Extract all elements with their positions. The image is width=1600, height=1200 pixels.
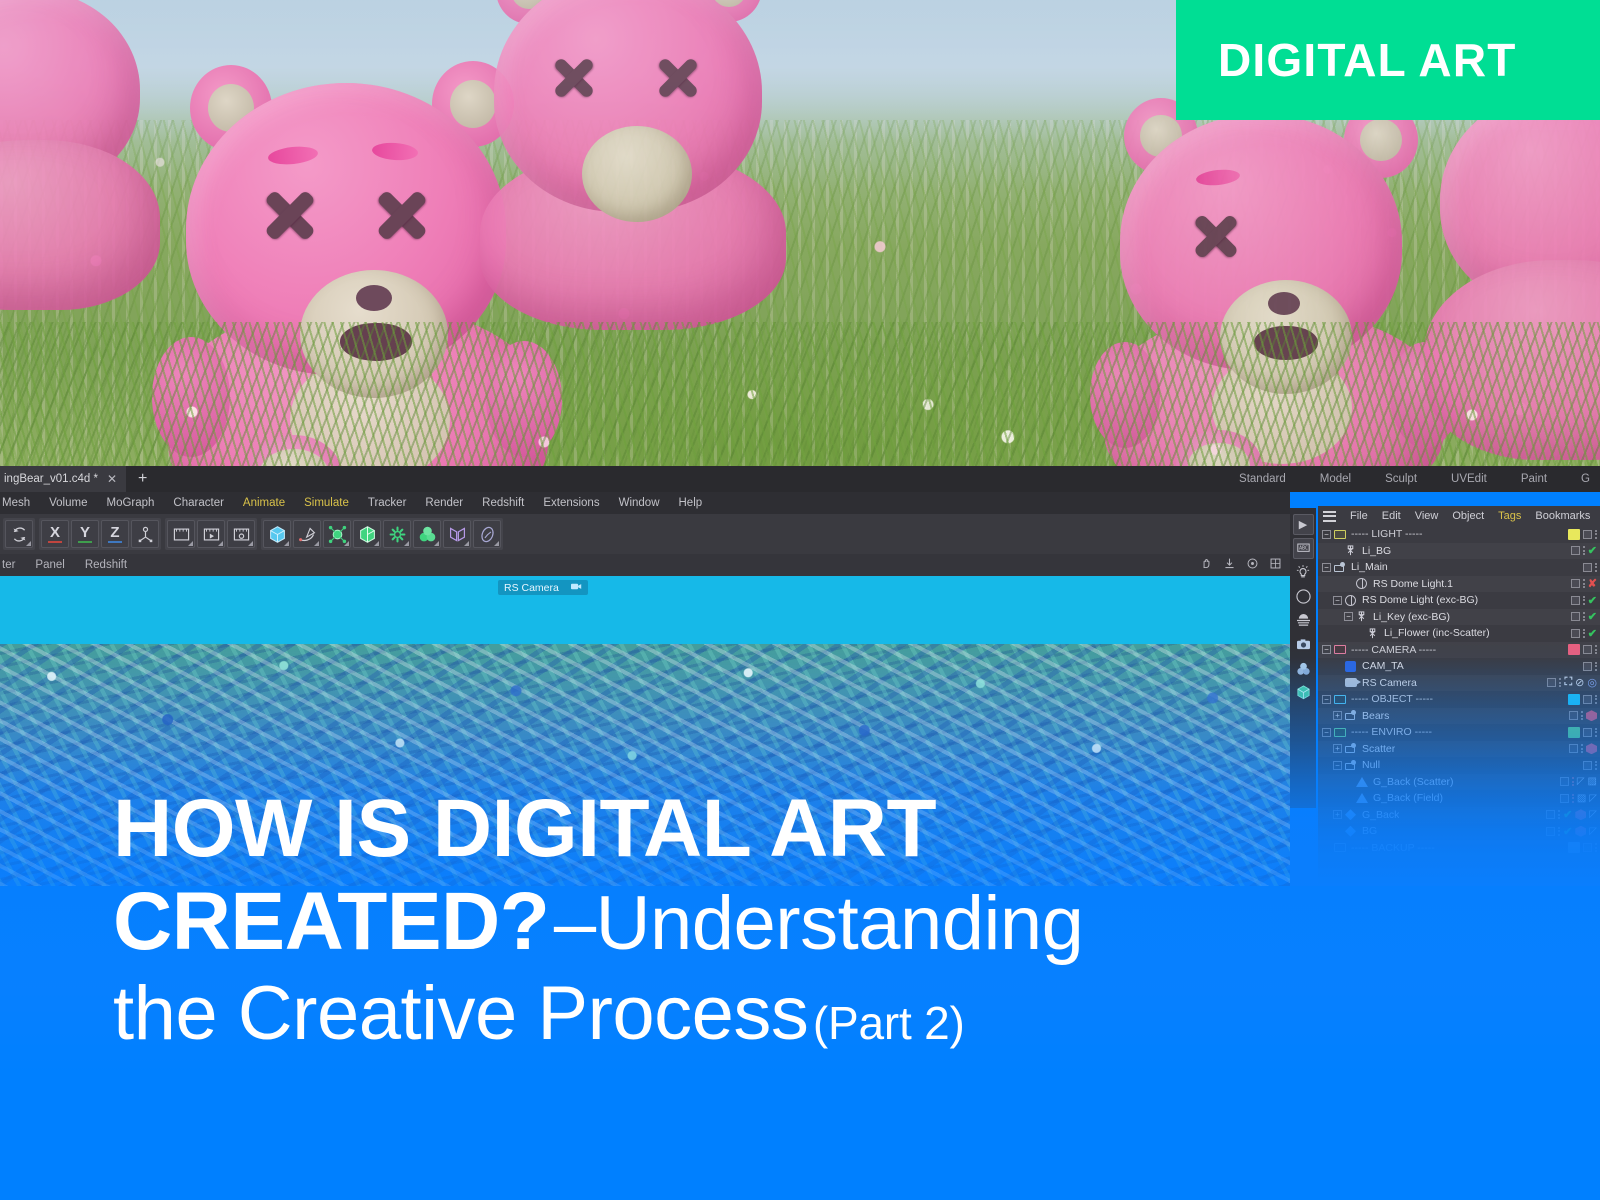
main-toolbar: X Y Z xyxy=(0,514,1290,554)
object-row[interactable]: −RS Dome Light (exc-BG)✔ xyxy=(1318,592,1600,609)
object-manager-side-icons: ▶ ABC xyxy=(1290,508,1316,808)
light-icon[interactable] xyxy=(1293,562,1314,583)
row-dots xyxy=(1583,612,1585,621)
bear-mouth xyxy=(1254,326,1318,360)
enabled-check-icon[interactable]: ✔ xyxy=(1588,594,1597,607)
lock-z-axis-icon[interactable]: Z xyxy=(101,520,129,548)
expand-toggle-icon[interactable]: − xyxy=(1333,596,1342,605)
viewport-menu-redshift[interactable]: Redshift xyxy=(85,559,127,571)
svg-text:ABC: ABC xyxy=(1299,546,1308,552)
bear-muzzle xyxy=(582,126,692,222)
tag-icon[interactable] xyxy=(1571,629,1580,638)
layer-color-swatch[interactable] xyxy=(1568,694,1580,705)
object-row-tags xyxy=(1583,662,1597,671)
row-dots xyxy=(1595,728,1597,737)
object-row-label: Bears xyxy=(1362,710,1389,722)
protection-tag-icon[interactable]: ⊘ xyxy=(1575,676,1584,689)
om-menu-bookmarks[interactable]: Bookmarks xyxy=(1535,510,1590,522)
title-line-3-part: (Part 2) xyxy=(813,997,965,1049)
folder-cyan-icon xyxy=(1334,694,1347,705)
title-line-1: HOW IS DIGITAL ART xyxy=(113,782,1433,875)
category-badge-label: DIGITAL ART xyxy=(1218,33,1517,87)
tag-icon[interactable] xyxy=(1583,530,1592,539)
viewport-menu-bar: ter Panel Redshift xyxy=(0,554,1290,576)
object-row-label: Li_Flower (inc-Scatter) xyxy=(1384,627,1490,639)
row-dots xyxy=(1595,695,1597,704)
object-row-label: Null xyxy=(1362,759,1380,771)
object-row-tags xyxy=(1569,710,1597,721)
menu-item-help[interactable]: Help xyxy=(679,497,703,509)
menu-item-extensions[interactable]: Extensions xyxy=(543,497,599,509)
layout-tab-sculpt[interactable]: Sculpt xyxy=(1385,473,1417,485)
object-row[interactable]: Li_Flower (inc-Scatter)✔ xyxy=(1318,625,1600,642)
shading-icon[interactable] xyxy=(1293,586,1314,607)
uv-tag-icon[interactable]: ◸ xyxy=(1589,809,1597,820)
bear-arm-left xyxy=(152,337,230,457)
tag-icon[interactable] xyxy=(1569,744,1578,753)
object-row-label: ----- ENVIRO ----- xyxy=(1351,726,1432,738)
bear-nose xyxy=(1268,292,1300,315)
tag-icon[interactable] xyxy=(1569,711,1578,720)
scene-cube-icon[interactable] xyxy=(1293,682,1314,703)
expand-toggle-icon[interactable]: + xyxy=(1333,744,1342,753)
row-dots xyxy=(1572,794,1574,803)
object-row-tags xyxy=(1568,694,1597,705)
bear-body xyxy=(0,140,160,310)
layout-tab-more[interactable]: G xyxy=(1581,473,1590,485)
null-icon xyxy=(1334,562,1347,573)
enabled-check-icon[interactable]: ✔ xyxy=(1588,610,1597,623)
row-dots xyxy=(1595,761,1597,770)
tag-icon[interactable] xyxy=(1546,810,1555,819)
teddy-bear-far-left xyxy=(0,0,170,270)
dome-icon xyxy=(1356,578,1369,589)
material-tag-icon[interactable] xyxy=(1575,826,1586,837)
object-row[interactable]: +Bears xyxy=(1318,708,1600,725)
menu-item-animate[interactable]: Animate xyxy=(243,497,285,509)
object-row-tags: ✘ xyxy=(1571,577,1597,590)
layer-color-swatch[interactable] xyxy=(1568,842,1580,853)
expand-toggle-icon[interactable]: − xyxy=(1322,530,1331,539)
subdivision-icon[interactable] xyxy=(353,520,381,548)
object-row[interactable]: −----- LIGHT ----- xyxy=(1318,526,1600,543)
object-row-tags xyxy=(1568,529,1597,540)
object-row-label: ----- CAMERA ----- xyxy=(1351,644,1436,656)
layout-tab-standard[interactable]: Standard xyxy=(1239,473,1286,485)
object-row-label: Li_Main xyxy=(1351,561,1388,573)
tag-icon[interactable] xyxy=(1571,579,1580,588)
title-line-3: the Creative Process (Part 2) xyxy=(113,971,1433,1058)
object-row-tags xyxy=(1583,761,1597,770)
object-row[interactable]: −Li_Key (exc-BG)✔ xyxy=(1318,609,1600,626)
object-row[interactable]: −----- OBJECT ----- xyxy=(1318,691,1600,708)
null-icon xyxy=(1345,710,1358,721)
object-row-label: ----- LIGHT ----- xyxy=(1351,528,1423,540)
hamburger-icon[interactable] xyxy=(1323,511,1336,522)
om-menu-file[interactable]: File xyxy=(1350,510,1368,522)
teddy-bear-back-left xyxy=(470,0,800,280)
toolbar-group-render xyxy=(165,518,257,550)
row-dots xyxy=(1572,777,1574,786)
menu-item-simulate[interactable]: Simulate xyxy=(304,497,349,509)
row-dots xyxy=(1595,645,1597,654)
object-row-label: RS Camera xyxy=(1362,677,1417,689)
layout-tab-uvedit[interactable]: UVEdit xyxy=(1451,473,1487,485)
object-row-tags: ✔ xyxy=(1571,610,1597,623)
tag-icon[interactable] xyxy=(1571,596,1580,605)
title-line-2-rest: –Understanding xyxy=(554,881,1084,966)
object-row-tags: ✔ xyxy=(1571,594,1597,607)
material-tag-icon[interactable] xyxy=(1575,809,1586,820)
object-row-label: RS Dome Light (exc-BG) xyxy=(1362,594,1478,606)
mograph-icon[interactable] xyxy=(413,520,441,548)
expand-toggle-icon[interactable]: − xyxy=(1322,645,1331,654)
toolbar-group-axis: X Y Z xyxy=(39,518,161,550)
object-row[interactable]: CAM_TA xyxy=(1318,658,1600,675)
expand-toggle-icon[interactable]: − xyxy=(1322,563,1331,572)
tag-icon[interactable] xyxy=(1560,794,1569,803)
row-dots xyxy=(1595,662,1597,671)
row-dots xyxy=(1583,629,1585,638)
expand-toggle-icon[interactable]: − xyxy=(1344,612,1353,621)
disabled-x-icon[interactable]: ✘ xyxy=(1588,577,1597,590)
field-icon[interactable] xyxy=(443,520,471,548)
article-title: HOW IS DIGITAL ART CREATED? –Understandi… xyxy=(113,782,1433,1058)
title-line-2: CREATED? –Understanding xyxy=(113,875,1433,968)
pan-icon[interactable] xyxy=(1200,557,1213,573)
folder-pink-icon xyxy=(1334,644,1347,655)
row-indent-spacer xyxy=(1344,579,1353,588)
tag-icon[interactable] xyxy=(1560,777,1569,786)
teddy-bear-right xyxy=(1090,90,1460,470)
object-manager-menu-bar: File Edit View Object Tags Bookmarks xyxy=(1318,506,1600,526)
viewport-sky xyxy=(0,576,1290,644)
layout-tab-paint[interactable]: Paint xyxy=(1521,473,1547,485)
tag-icon[interactable] xyxy=(1583,761,1592,770)
object-row-label: Li_Key (exc-BG) xyxy=(1373,611,1450,623)
primitive-cube-icon[interactable] xyxy=(263,520,291,548)
object-row-label: Li_BG xyxy=(1362,545,1391,557)
row-dots xyxy=(1595,530,1597,539)
object-row-tags: ✔ xyxy=(1571,627,1597,640)
viewport-camera-label[interactable]: RS Camera xyxy=(498,580,588,595)
document-tab-bar: ingBear_v01.c4d * ✕ + Standard Model Scu… xyxy=(0,466,1600,492)
expand-toggle-icon[interactable]: − xyxy=(1322,728,1331,737)
uv-tag-icon[interactable]: ◸ xyxy=(1589,826,1597,837)
object-row[interactable]: RS Dome Light.1✘ xyxy=(1318,576,1600,593)
row-dots xyxy=(1583,579,1585,588)
object-row-label: CAM_TA xyxy=(1362,660,1404,672)
null-icon xyxy=(1345,743,1358,754)
layout-tab-model[interactable]: Model xyxy=(1320,473,1351,485)
tag-icon[interactable] xyxy=(1583,843,1592,852)
menu-item-mesh[interactable]: Mesh xyxy=(2,497,30,509)
layer-color-swatch[interactable] xyxy=(1568,727,1580,738)
objects-icon[interactable] xyxy=(1293,658,1314,679)
light-icon xyxy=(1367,628,1380,639)
row-indent-spacer xyxy=(1333,546,1342,555)
light-icon xyxy=(1345,545,1358,556)
camera-icon[interactable] xyxy=(1293,634,1314,655)
tag-icon[interactable] xyxy=(1583,563,1592,572)
bear-body xyxy=(1424,260,1600,460)
menu-item-character[interactable]: Character xyxy=(173,497,224,509)
bear-arm-left xyxy=(1090,342,1160,448)
uv-tag-icon[interactable]: ◸ xyxy=(1577,776,1585,787)
deformer-icon[interactable] xyxy=(383,520,411,548)
om-menu-view[interactable]: View xyxy=(1415,510,1439,522)
row-indent-spacer xyxy=(1333,678,1342,687)
target-tag-icon[interactable]: ⛶ xyxy=(1564,676,1572,689)
object-row-label: RS Dome Light.1 xyxy=(1373,578,1453,590)
maximize-icon[interactable] xyxy=(1269,557,1282,573)
object-row-tags xyxy=(1568,842,1597,853)
enabled-check-icon[interactable]: ✔ xyxy=(1588,627,1597,640)
nurbs-generator-icon[interactable] xyxy=(323,520,351,548)
tag-icon[interactable] xyxy=(1546,827,1555,836)
lock-y-axis-icon[interactable]: Y xyxy=(71,520,99,548)
object-row-tags: ▨◸ xyxy=(1560,793,1597,804)
viewport-camera-name: RS Camera xyxy=(504,582,559,594)
menu-item-mograph[interactable]: MoGraph xyxy=(106,497,154,509)
null-icon xyxy=(1345,760,1358,771)
tag-icon[interactable] xyxy=(1583,728,1592,737)
dome-icon xyxy=(1345,595,1358,606)
expand-toggle-icon[interactable]: + xyxy=(1333,711,1342,720)
material-tag-icon[interactable] xyxy=(1586,710,1597,721)
object-row[interactable]: +Scatter xyxy=(1318,741,1600,758)
field-tag-icon[interactable]: ▨ xyxy=(1588,776,1597,787)
new-document-icon[interactable]: + xyxy=(126,470,159,488)
object-row[interactable]: −Null xyxy=(1318,757,1600,774)
render-view-icon[interactable] xyxy=(167,520,195,548)
row-dots xyxy=(1583,546,1585,555)
row-dots xyxy=(1581,711,1583,720)
om-menu-edit[interactable]: Edit xyxy=(1382,510,1401,522)
title-line-3-main: the Creative Process xyxy=(113,971,808,1056)
camblue-icon xyxy=(1345,661,1358,672)
close-icon[interactable]: ✕ xyxy=(107,472,117,486)
tag-icon[interactable] xyxy=(1583,662,1592,671)
viewport-nav-icons xyxy=(1200,557,1290,573)
layout-tabs: Standard Model Sculpt UVEdit Paint G xyxy=(1239,473,1600,485)
environment-icon[interactable] xyxy=(1293,610,1314,631)
menu-item-render[interactable]: Render xyxy=(425,497,463,509)
row-dots xyxy=(1583,596,1585,605)
object-row-tags xyxy=(1568,727,1597,738)
light-icon xyxy=(1356,611,1369,622)
spline-pen-icon[interactable] xyxy=(293,520,321,548)
cam-icon xyxy=(1345,677,1358,688)
object-row-tags: ✔◸ xyxy=(1546,808,1597,821)
title-line-2-bold: CREATED? xyxy=(113,876,549,967)
bear-mouth xyxy=(340,323,412,361)
camera-icon xyxy=(571,582,582,594)
menu-item-tracker[interactable]: Tracker xyxy=(368,497,407,509)
render-queue-icon[interactable] xyxy=(197,520,225,548)
menu-item-redshift[interactable]: Redshift xyxy=(482,497,524,509)
object-row-label: ----- OBJECT ----- xyxy=(1351,693,1433,705)
object-row-tags xyxy=(1569,743,1597,754)
object-row-tags: ⛶⊘◎ xyxy=(1547,676,1597,689)
material-tag-icon[interactable] xyxy=(1586,743,1597,754)
toolbar-group-undo xyxy=(3,518,35,550)
uv-tag-icon[interactable]: ◸ xyxy=(1589,793,1597,804)
menu-bar: Mesh Volume MoGraph Character Animate Si… xyxy=(0,492,1290,514)
layer-color-swatch[interactable] xyxy=(1568,644,1580,655)
menu-item-volume[interactable]: Volume xyxy=(49,497,87,509)
object-row-label: Scatter xyxy=(1362,743,1395,755)
object-row-tags xyxy=(1583,563,1597,572)
toolbar-group-objects xyxy=(261,518,503,550)
object-row-tags xyxy=(1568,644,1597,655)
coordinate-system-icon[interactable] xyxy=(131,520,159,548)
object-row-tags: ◸▨ xyxy=(1560,776,1597,787)
tag-icon[interactable] xyxy=(1571,546,1580,555)
expand-toggle-icon[interactable]: − xyxy=(1333,761,1342,770)
row-dots xyxy=(1595,843,1597,852)
menu-item-window[interactable]: Window xyxy=(619,497,660,509)
category-badge: DIGITAL ART xyxy=(1176,0,1600,120)
layer-color-swatch[interactable] xyxy=(1568,529,1580,540)
expand-toggle-icon[interactable]: − xyxy=(1322,695,1331,704)
row-dots xyxy=(1558,810,1560,819)
rotate-icon[interactable] xyxy=(1246,557,1259,573)
row-indent-spacer xyxy=(1355,629,1364,638)
object-row-tags: ✔ xyxy=(1571,544,1597,557)
om-menu-tags[interactable]: Tags xyxy=(1498,510,1521,522)
document-tab-label: ingBear_v01.c4d * xyxy=(4,473,98,485)
render-icon[interactable]: ▶ xyxy=(1293,514,1314,535)
tag-icon[interactable] xyxy=(1583,695,1592,704)
camera-tag-icon[interactable]: ◎ xyxy=(1587,676,1597,689)
row-dots xyxy=(1595,563,1597,572)
object-row[interactable]: −----- ENVIRO ----- xyxy=(1318,724,1600,741)
object-row[interactable]: −Li_Main xyxy=(1318,559,1600,576)
row-dots xyxy=(1581,744,1583,753)
enabled-check-icon[interactable]: ✔ xyxy=(1563,825,1572,838)
folder-icon xyxy=(1334,529,1347,540)
scene-icon[interactable] xyxy=(473,520,501,548)
tag-icon[interactable] xyxy=(1583,645,1592,654)
viewport-menu-panel[interactable]: Panel xyxy=(35,559,64,571)
object-row-tags: ✔◸ xyxy=(1546,825,1597,838)
bear-arm-right xyxy=(486,341,562,457)
tag-icon[interactable] xyxy=(1547,678,1556,687)
bear-nose xyxy=(356,285,392,311)
viewport-menu-filter[interactable]: ter xyxy=(2,559,15,571)
field-tag-icon[interactable]: ▨ xyxy=(1577,793,1586,804)
lock-x-axis-icon[interactable]: X xyxy=(41,520,69,548)
row-dots xyxy=(1559,678,1561,687)
tag-icon[interactable] xyxy=(1571,612,1580,621)
document-tab[interactable]: ingBear_v01.c4d * ✕ xyxy=(0,466,126,492)
row-indent-spacer xyxy=(1333,662,1342,671)
om-menu-object[interactable]: Object xyxy=(1452,510,1484,522)
row-dots xyxy=(1558,827,1560,836)
undo-redo-icon[interactable] xyxy=(5,520,33,548)
object-row[interactable]: −----- CAMERA ----- xyxy=(1318,642,1600,659)
folder-green-icon xyxy=(1334,727,1347,738)
object-row[interactable]: RS Camera⛶⊘◎ xyxy=(1318,675,1600,692)
zoom-icon[interactable] xyxy=(1223,557,1236,573)
enabled-check-icon[interactable]: ✔ xyxy=(1588,544,1597,557)
enabled-check-icon[interactable]: ✔ xyxy=(1563,808,1572,821)
render-settings-icon[interactable] xyxy=(227,520,255,548)
object-row[interactable]: Li_BG✔ xyxy=(1318,543,1600,560)
layers-icon[interactable]: ABC xyxy=(1293,538,1314,559)
